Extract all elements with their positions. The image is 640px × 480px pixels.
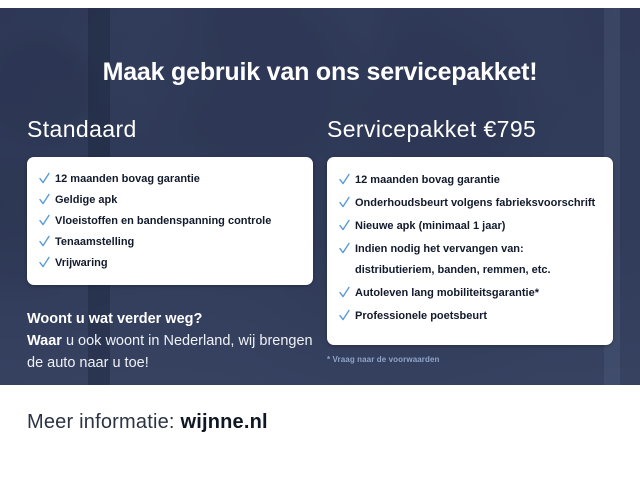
list-item-label: Onderhoudsbeurt volgens fabrieksvoorschr… xyxy=(355,196,599,210)
column-title-servicepakket: Servicepakket €795 xyxy=(327,116,613,143)
column-servicepakket: Servicepakket €795 12 maanden bovag gara… xyxy=(327,116,613,345)
website-link[interactable]: wijnne.nl xyxy=(180,411,267,433)
check-icon xyxy=(39,214,50,227)
list-item: Indien nodig het vervangen van: distribu… xyxy=(339,237,599,281)
promo-banner: Maak gebruik van ons servicepakket! Stan… xyxy=(0,0,640,480)
delivery-note-title: Woont u wat verder weg? xyxy=(27,308,317,330)
list-item-sublabel: distributieriem, banden, remmen, etc. xyxy=(355,263,599,277)
list-item-label: Vrijwaring xyxy=(55,256,299,270)
delivery-note-body: u ook woont in Nederland, wij brengen de… xyxy=(27,333,313,371)
more-info-line: Meer informatie: wijnne.nl xyxy=(27,411,268,434)
check-icon xyxy=(39,256,50,269)
delivery-note: Woont u wat verder weg? Waar u ook woont… xyxy=(27,308,317,374)
check-icon xyxy=(339,309,350,322)
check-icon xyxy=(339,196,350,209)
list-item-label: Indien nodig het vervangen van: xyxy=(355,243,524,255)
list-item-label: Nieuwe apk (minimaal 1 jaar) xyxy=(355,219,599,233)
card-standaard: 12 maanden bovag garantie Geldige apk xyxy=(27,157,313,285)
list-item: Autoleven lang mobiliteitsgarantie* xyxy=(339,281,599,304)
list-item-label: Geldige apk xyxy=(55,193,299,207)
list-item-label: 12 maanden bovag garantie xyxy=(55,172,299,186)
delivery-note-emphasis: Waar xyxy=(27,333,62,349)
list-item: Vloeistoffen en bandenspanning controle xyxy=(39,210,299,231)
check-icon xyxy=(339,219,350,232)
check-icon xyxy=(39,235,50,248)
list-item: Nieuwe apk (minimaal 1 jaar) xyxy=(339,214,599,237)
page-title: Maak gebruik van ons servicepakket! xyxy=(0,58,640,87)
check-icon xyxy=(339,173,350,186)
list-item-label: Autoleven lang mobiliteitsgarantie* xyxy=(355,286,599,300)
list-item-label: Vloeistoffen en bandenspanning controle xyxy=(55,214,299,228)
check-icon xyxy=(39,193,50,206)
list-item-label: 12 maanden bovag garantie xyxy=(355,173,599,187)
feature-list-servicepakket: 12 maanden bovag garantie Onderhoudsbeur… xyxy=(339,168,599,327)
footnote-voorwaarden: * Vraag naar de voorwaarden xyxy=(327,355,440,364)
feature-list-standaard: 12 maanden bovag garantie Geldige apk xyxy=(39,168,299,273)
check-icon xyxy=(39,172,50,185)
list-item-label: Professionele poetsbeurt xyxy=(355,309,599,323)
check-icon xyxy=(339,286,350,299)
column-standaard: Standaard 12 maanden bovag garantie xyxy=(27,116,313,285)
list-item-label: Tenaamstelling xyxy=(55,235,299,249)
list-item: Vrijwaring xyxy=(39,252,299,273)
hero-panel: Maak gebruik van ons servicepakket! Stan… xyxy=(0,8,640,385)
list-item: 12 maanden bovag garantie xyxy=(39,168,299,189)
footer: Meer informatie: wijnne.nl AUTOBEDRIJF W… xyxy=(0,385,640,480)
column-title-standaard: Standaard xyxy=(27,116,313,143)
list-item: Onderhoudsbeurt volgens fabrieksvoorschr… xyxy=(339,191,599,214)
list-item: Tenaamstelling xyxy=(39,231,299,252)
list-item: Professionele poetsbeurt xyxy=(339,304,599,327)
list-item: Geldige apk xyxy=(39,189,299,210)
more-info-label: Meer informatie: xyxy=(27,411,180,433)
card-servicepakket: 12 maanden bovag garantie Onderhoudsbeur… xyxy=(327,157,613,345)
check-icon xyxy=(339,242,350,255)
list-item: 12 maanden bovag garantie xyxy=(339,168,599,191)
